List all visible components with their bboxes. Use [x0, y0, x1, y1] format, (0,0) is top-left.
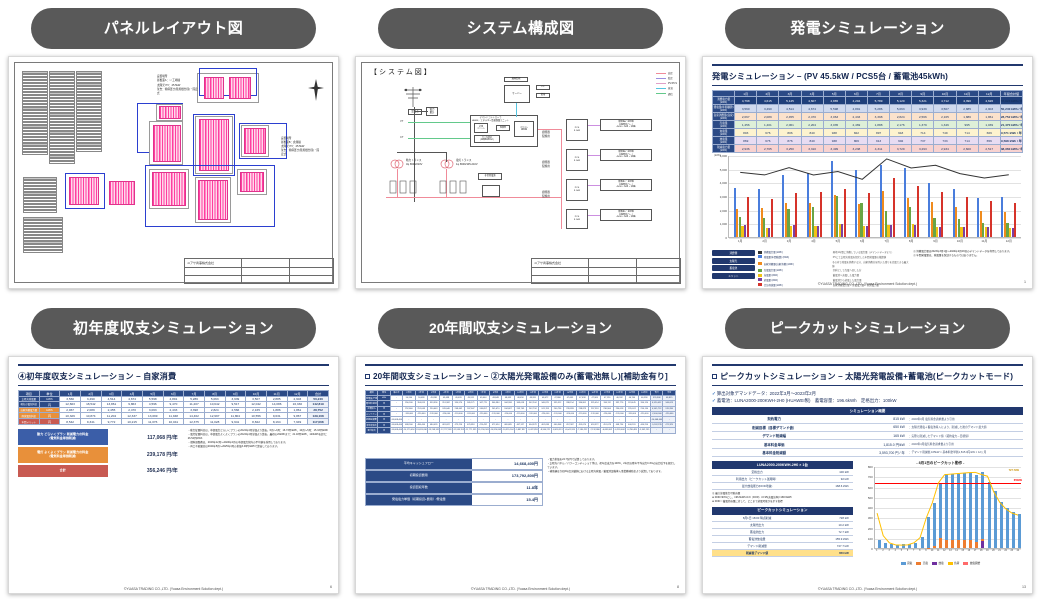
legend-note: その内で発電を消費する分、自家消費分を除いた残りを売電できる最大値: [832, 260, 910, 268]
load-line: [877, 472, 1018, 545]
kv-note: ：実際に削減したデマンド値（契約電力－目標値）: [905, 434, 1023, 438]
note-b: 設置場所 屋根面B：倉庫棟: [281, 137, 317, 145]
row-total: -: [650, 428, 662, 433]
row-total: 117,068: [308, 419, 329, 425]
kv-row: 削減目標（目標デマンド値） 650 kW ：太陽光発電＋蓄電池導入により、削減し…: [712, 424, 1023, 432]
x-tick: 11月: [981, 239, 987, 243]
cell: 7,949: [287, 419, 308, 425]
spec-table-e: [23, 217, 63, 253]
utility-pole-icon: [400, 85, 426, 112]
cell: 676: [757, 129, 779, 137]
legend-tag: 太陽光: [712, 258, 755, 264]
node-pcs-1: PCS9.1kW: [566, 119, 588, 141]
diagram-company: ユアサ商事株式会社: [534, 261, 561, 265]
y-tick: 700: [868, 475, 873, 479]
cell: 3,499: [823, 145, 845, 153]
cell: 2,455: [779, 113, 801, 121]
panel-peakcut-title[interactable]: ピークカットシミュレーション: [725, 308, 1010, 349]
cell: 8,822: [246, 419, 267, 425]
panel-layout-slide[interactable]: 設置場所 屋根面A：○○工場棟 太陽光 PV：45.5kW 架台：傾斜置き(陸屋…: [8, 56, 339, 289]
cell: 676: [757, 137, 779, 145]
generation-slide-title: 発電シミュレーション – (PV 45.5kW / PCS5台 / 蓄電池45k…: [712, 64, 1023, 86]
legend-item: 負荷: [948, 561, 960, 565]
cell: -5,786,489: [626, 428, 638, 433]
peak-y-axis: 0100200300400500600700800: [858, 467, 874, 559]
twentyyear-summary: 平均キャッシュフロー 14,668,400円 初期投資費用 173,792,80…: [365, 458, 543, 506]
legend-item: 自家消費量(自家消費) (kWh) その内で発電を消費する分、自家消費分を除いた…: [758, 260, 911, 268]
panel-array-a1: [204, 77, 224, 99]
peakcut-kv-list: 契約電力 815 kW ：2023年3月 電気料金請求書より引用 削減目標（目標…: [712, 415, 1023, 457]
y-tick: 600: [868, 486, 873, 490]
cell: 1,886: [956, 113, 978, 121]
row-label: 累計収支: [366, 428, 378, 433]
node-cloud-label: 遠隔監視: [504, 77, 528, 82]
line-series: [740, 159, 1009, 179]
twentyyear-title-text: 20年間収支シミュレーション – ②太陽光発電設備のみ(蓄電池無し)[補助金有り…: [373, 372, 668, 381]
legend-tag: メリット: [712, 273, 755, 279]
cell: 902: [890, 137, 912, 145]
cell: 656: [978, 137, 1000, 145]
wire-pcs-bus: [561, 129, 562, 229]
wire-pcs-2: [588, 155, 600, 156]
table-row: 消費電力量(kWh)4,7984,6155,1454,6074,8654,294…: [713, 97, 1023, 105]
note-a2: 太陽光 PV：45.5kW 架台：傾斜置き(陸屋根仕様)・固定式: [157, 84, 199, 95]
cell: -14,668,400: [390, 428, 402, 433]
y-tick: 300: [868, 516, 873, 520]
peak-value: 155.9 kWh: [802, 537, 853, 541]
twentyyear-footer: ©YUASA TRADING CO.,LTD. (Yuasa Environme…: [356, 587, 685, 591]
peakcut-footer: ©YUASA TRADING CO.,LTD. (Yuasa Environme…: [703, 587, 1032, 591]
row-label: 自家消費電力量: [19, 407, 40, 412]
panel-generation: 発電シミュレーション 発電シミュレーション – (PV 45.5kW / PCS…: [694, 0, 1041, 300]
panel-system-slide[interactable]: 【システム図】 高圧 低圧 PV/PCS 直流 通信 受電点 電力量計 VT C…: [355, 56, 686, 289]
cell: 1,888: [867, 121, 889, 129]
cell: 2,469: [845, 121, 867, 129]
cell: -9,887,837: [514, 428, 526, 433]
summary-box: 電灯 よくよくプラン 削減電力の料金(電気料金単価削減) 239,178 円/年: [18, 447, 184, 463]
row-label: 放電量(kWh): [713, 137, 735, 145]
x-tick: 8: [919, 550, 920, 552]
x-tick: 12: [943, 550, 946, 552]
peakcut-chart: 0100200300400500600700800 650kW727.7kW 1…: [858, 467, 1023, 559]
cell: 3,035: [823, 121, 845, 129]
x-tick: 6月: [860, 239, 865, 243]
cell: 1,379: [912, 121, 934, 129]
chart-line-overlay: [728, 156, 1021, 238]
wire-meter: [414, 111, 428, 112]
cell: 737: [912, 137, 934, 145]
transformer-light-icon: [440, 157, 454, 175]
firstyear-notes: ・動力従量料金は、中部電力どらいくプランの2024年4月単価より算出。6月～9月…: [188, 429, 329, 478]
table-row: 年間メリット 円8,5429,3419,77210,21511,07610,04…: [19, 419, 329, 425]
peak-row: 蓄電池放電量 155.9 kWh: [712, 536, 853, 543]
summary-value: 173,792,800円: [472, 471, 542, 481]
kv-key: 契約電力: [712, 416, 836, 421]
y-tick: 3,000: [720, 195, 727, 199]
table-row: 売電量(kWh)1,4561,4012,0612,2043,0352,4691,…: [713, 121, 1023, 129]
north-arrow-svg: [308, 77, 324, 101]
cell: 822: [845, 129, 867, 137]
transformer-power-note: 動力トランス 3φ 6600/210V: [406, 159, 442, 167]
cell: 2,061: [779, 121, 801, 129]
summary-label: 初期投資費用: [366, 471, 472, 481]
note-line: ・太陽光パネル／パワーコンディショナ等は、初年度出力を100%、2年目以降年平均…: [547, 462, 676, 470]
panel-array-a2: [229, 77, 251, 99]
y-tick: 200: [868, 527, 873, 531]
cell: -12,727,369: [440, 428, 452, 433]
panel-20year-slide[interactable]: 20年間収支シミュレーション – ②太陽光発電設備のみ(蓄電池無し)[補助金有り…: [355, 356, 686, 594]
cell: 1,401: [757, 121, 779, 129]
peak-value: 10.2 kW: [802, 523, 853, 527]
legend-item: 発電量(年間積算) (kWh) PVにて太陽光発電を想定した年間発電量の積算値: [758, 255, 911, 259]
y-tick: 4,000: [720, 181, 727, 185]
node-emergency-box: [482, 185, 500, 197]
cell: -12,248,153: [452, 428, 464, 433]
peak-key: デマンド削減量: [712, 544, 802, 548]
dimension-e: [145, 165, 275, 227]
x-tick: 4: [895, 550, 896, 552]
cell: 11,028: [204, 419, 225, 425]
battery-key: 最大放電能力(DOD考慮): [712, 484, 802, 488]
cell: 869: [735, 137, 757, 145]
battery-row: 利用出力（ピークカット運用時） 92 kW: [712, 476, 853, 483]
node-pcs-2: PCS9.1kW: [566, 149, 588, 171]
wire-tx-branch: [397, 152, 447, 153]
wire-tx-light-drop: [446, 152, 447, 162]
y-tick: 1,000: [720, 222, 727, 226]
peak-row: 太陽光出力 10.2 kW: [712, 522, 853, 529]
drawing-title-block: ユアサ商事株式会社: [184, 258, 334, 284]
peak-key: 蓄電池放電量: [712, 537, 802, 541]
north-arrow-icon: [308, 77, 324, 103]
row-label: 売電量(kWh): [713, 121, 735, 129]
row-label: 自家消費量(自家)(kWh): [713, 113, 735, 121]
panel-peakcut: ピークカットシミュレーション ピークカットシミュレーション – 太陽光発電設備+…: [694, 300, 1041, 599]
legend-note: 現地1年間に消費している電力量（デマンドデータより）: [833, 250, 894, 254]
cell: 4,514: [779, 105, 801, 113]
battery-value: 92 kW: [802, 477, 853, 481]
peak-line-overlay: [874, 467, 1021, 549]
battery-row: 定格出力 100 kW: [712, 469, 853, 476]
peakcut-bullets: ✓ 算出対象デマンドデータ：2022年3月～2023年2月✓ 蓄電池：LUNA2…: [712, 390, 1023, 405]
kv-row: 基本料金単価 1,815.0 円/kW ：2023年4月電気料金請求書より引用: [712, 440, 1023, 448]
node-array-3: 屋根面C・接続箱太陽電池アレイ450W × 26直 × 1回路: [600, 179, 652, 191]
cell: -5,342,235: [638, 428, 650, 433]
node-control-unit: 制御部: [496, 125, 510, 131]
summary-box: 合計 356,246 円/年: [18, 465, 184, 477]
wire-cloud: [516, 103, 517, 117]
summary-value: 117,068 円/年: [108, 434, 184, 441]
checkbox-icon: [712, 374, 717, 379]
wire-pcs-3: [588, 185, 600, 186]
cell: 9,772: [101, 419, 122, 425]
kv-key: 削減目標（目標デマンド値）: [712, 425, 836, 430]
cell: 2,765: [757, 145, 779, 153]
cell: -7,586,252: [576, 428, 588, 433]
y-tick: 6,000: [720, 154, 727, 158]
node-array-4: 屋根面D・接続箱太陽電池アレイ450W × 26直 × 1回路: [600, 209, 652, 221]
row-unit: 円: [39, 419, 60, 425]
twentyyear-page-no: 8: [677, 585, 679, 589]
row-label: 年間メリット: [19, 419, 40, 425]
legend-note: 余剰として売電へ回した分: [833, 268, 862, 272]
y-tick: 500: [868, 496, 873, 500]
panel-firstyear-slide[interactable]: ④初年度収支シミュレーション – 自家消費 項目単位1月2月3月4月5月6月7月…: [8, 356, 339, 594]
peakcut-title-text: ピークカットシミュレーション – 太陽光発電設備+蓄電池(ピークカットモード): [720, 372, 1013, 381]
cell: 4,891: [845, 105, 867, 113]
cell: 2,600: [956, 145, 978, 153]
cell: 2,517: [978, 145, 1000, 153]
cell: 4,294: [845, 97, 867, 105]
x-tick: 16: [968, 550, 971, 552]
wire-ct-signal: [408, 138, 470, 139]
legend-label: 消費電力量 (kWh): [764, 250, 831, 254]
peakcut-page-no: 13: [1022, 585, 1026, 589]
battery-header: LUNA2000-200KWH-2H0 × 1台: [712, 461, 853, 469]
cell: 2,824: [890, 113, 912, 121]
firstyear-footer: ©YUASA TRADING CO.,LTD. (Yuasa Environme…: [9, 587, 338, 591]
cell: 8,164: [266, 419, 287, 425]
panel-system-title[interactable]: システム構成図: [378, 8, 663, 49]
cell: 806: [845, 137, 867, 145]
peakcut-chart-legend: 買電売電放電負荷放電開始: [858, 561, 1023, 565]
peak-row: デマンド削減量 727.7 kW: [712, 543, 853, 550]
legend-note: PVにて太陽光発電を想定した年間発電量の積算値: [833, 255, 886, 259]
cell: 2,903: [978, 105, 1000, 113]
cell: 938: [823, 137, 845, 145]
peak-key: 蓄電池出力: [712, 530, 802, 534]
summary-label: 投資回収年数: [366, 483, 472, 493]
cell: 2,176: [890, 121, 912, 129]
kv-row: 契約電力 815 kW ：2023年3月 電気料金請求書より引用: [712, 415, 1023, 423]
panel-layout: パネルレイアウト図: [0, 0, 347, 300]
summary-value: 15.4円: [472, 495, 542, 505]
cell: 913: [867, 137, 889, 145]
kv-row: 基本料金削減額 3,593,700 円 / 年 ：デマンド削減幅 165kW ×…: [712, 449, 1023, 457]
legend-note: 蓄電池へ充電した電力量: [833, 273, 859, 277]
peak-row: 8月1日 18:00 時点削減 728 kW: [712, 515, 853, 522]
peak-key: 8月1日 18:00 時点削減: [712, 516, 802, 520]
y-tick: 400: [868, 506, 873, 510]
cell: 938: [823, 129, 845, 137]
cell: 3,250: [779, 145, 801, 153]
cell: 4,674: [801, 105, 823, 113]
cell: 4,607: [801, 97, 823, 105]
battery-key: 利用出力（ピークカット運用時）: [712, 477, 802, 481]
chart-y-axis: 01,0002,0003,0004,0005,0006,000: [712, 156, 728, 248]
legend-item: 売電電力量 (kWh) 余剰として売電へ回した分: [758, 268, 911, 272]
cell: 4,311: [867, 145, 889, 153]
breaker-group-right: [438, 179, 468, 200]
cell: 3,238: [845, 145, 867, 153]
node-monitor: モニタ表示(遠隔監視対応): [474, 135, 500, 143]
cell: 876: [779, 137, 801, 145]
cell: -13,208,991: [427, 428, 439, 433]
label-vt: VT: [400, 120, 403, 123]
checkbox-icon: [365, 374, 370, 379]
generation-page-no: 1: [1024, 280, 1026, 284]
cell: 4,390: [956, 97, 978, 105]
cell: 9,941: [225, 419, 246, 425]
panel-20year-title[interactable]: 20年間収支シミュレーション: [378, 308, 663, 349]
kv-key: 基本料金単価: [712, 442, 836, 447]
twentyyear-notes: ・電力単価を24.7万円で試算しております。・太陽光パネル／パワーコンディショナ…: [547, 458, 676, 506]
row-total: 57,924 kWh / 年: [1000, 97, 1022, 105]
summary-label: 電灯 よくよくプラン 削減電力の料金(電気料金単価削減): [18, 447, 108, 463]
x-tick: 23: [1011, 550, 1014, 552]
generation-footer: ©YUASA TRADING CO.,LTD. (Yuasa Environme…: [703, 282, 1032, 286]
dimension-d: [239, 123, 287, 159]
peak-value: 72.7 kW: [802, 530, 853, 534]
row-total: 9,571 kWh / 年: [1000, 129, 1022, 137]
spec-table-b: [49, 71, 75, 164]
y-tick: 800: [868, 465, 873, 469]
node-array-1: 屋根面A・接続箱太陽電池アレイ450W × 26直 × 1回路: [600, 119, 652, 131]
cell: 8,542: [60, 419, 81, 425]
panel-generation-title[interactable]: 発電シミュレーション: [725, 8, 1010, 49]
battery-key: 定格出力: [712, 470, 802, 474]
firstyear-table: 項目単位1月2月3月4月5月6月7月8月9月10月11月12月合計 太陽光発電量…: [18, 390, 329, 426]
cell: 669: [978, 129, 1000, 137]
x-tick: 15: [961, 550, 964, 552]
legend-item: 買電: [901, 561, 913, 565]
cell: 2,433: [845, 113, 867, 121]
panel-firstyear: 初年度収支シミュレーション ④初年度収支シミュレーション – 自家消費 項目単位…: [0, 300, 347, 599]
wire-pcs-feed: [538, 129, 562, 130]
x-tick: 24: [1017, 550, 1020, 552]
x-tick: 11: [937, 550, 939, 552]
summary-row: 発電電力単価（初期投資+費用）/発電量 15.4円: [365, 494, 543, 506]
table-row: 充電量(kWh)80367680684093882289791871474971…: [713, 129, 1023, 137]
kv-key: デマンド削減幅: [712, 433, 836, 438]
x-tick: 9月: [933, 239, 938, 243]
x-tick: 19: [986, 550, 989, 552]
cell: 10,215: [122, 419, 143, 425]
row-total: 38,360 kWh / 年: [1000, 145, 1022, 153]
x-tick: 2月: [762, 239, 767, 243]
summary-value: 14,668,400円: [472, 459, 542, 469]
cell: 12,375: [184, 419, 205, 425]
cell: 5,063: [890, 105, 912, 113]
y-tick: 0: [725, 236, 727, 240]
summary-label: 平均キャッシュフロー: [366, 459, 472, 469]
x-tick: 8月: [909, 239, 914, 243]
row-total: 9,598 kWh / 年: [1000, 137, 1022, 145]
peak-key: 太陽光出力: [712, 523, 802, 527]
cell: 3,398: [867, 113, 889, 121]
cell: -14,179,494: [403, 428, 415, 433]
wire-vt-signal: [408, 122, 470, 123]
x-tick: 7: [913, 550, 914, 552]
panel-generation-slide[interactable]: 発電シミュレーション – (PV 45.5kW / PCS5台 / 蓄電池45k…: [702, 56, 1033, 289]
note-line: ・補助額は令和6年度実績値における太陽光発電／蓄電池設備導入事業費補助金より試算…: [547, 470, 676, 474]
kv-value: 650 kW: [836, 425, 904, 429]
cell: 2,934: [934, 145, 956, 153]
cell: 5,120: [890, 97, 912, 105]
chart-x-axis: 1月2月3月4月5月6月7月8月9月10月11月12月: [728, 238, 1021, 248]
summary-row: 投資回収年数 11.8年: [365, 482, 543, 494]
note-b2: 太陽光 PV：45.5kW 架台：傾斜置き(陸屋根仕様)・固定式: [281, 145, 321, 156]
peak-key: 削減後デマンド値: [712, 551, 802, 555]
summary-label: 発電電力単価（初期投資+費用）/発電量: [366, 495, 472, 505]
row-avg: -: [663, 428, 676, 433]
diagram-title-block: ユアサ商事株式会社: [531, 258, 681, 284]
cell: 4,798: [735, 97, 757, 105]
peak-row: 削減後デマンド値 650 kW: [712, 550, 853, 557]
kv-value: 165 kW: [836, 434, 904, 438]
row-label: 充電量(kWh): [713, 129, 735, 137]
node-cloud-server: サーバー: [504, 85, 530, 103]
peak-header: ピークカットシミュレーション: [712, 507, 853, 515]
cell: -10,824,849: [489, 428, 501, 433]
note-a: 設置場所 屋根面A：○○工場棟: [157, 75, 195, 83]
summary-row: 平均キャッシュフロー 14,668,400円: [365, 458, 543, 470]
cell: 4,626: [978, 97, 1000, 105]
panel-layout-title[interactable]: パネルレイアウト図: [31, 8, 316, 49]
bullet-line: ✓ 蓄電池：LUNA2000-200KWH-2H0 (HUAWEI製) 蓄電容量…: [712, 397, 1023, 404]
node-receiving-point: 受電点: [408, 109, 422, 115]
cell: -6,233,008: [613, 428, 625, 433]
cell: 995: [956, 121, 978, 129]
legend-tag: 消費側: [712, 250, 755, 256]
x-tick: 5月: [836, 239, 841, 243]
row-unit: 円: [378, 428, 390, 433]
panel-array-i: [109, 181, 135, 205]
node-array-2: 屋根面B・接続箱太陽電池アレイ450W × 26直 × 1回路: [600, 149, 652, 161]
breaker-note-1: 遮断器配線用: [542, 131, 550, 139]
transformer-light-note: 電灯トランス 1φ 6600/105-210V: [456, 159, 494, 167]
panel-system: システム構成図 【システム図】 高圧 低圧 PV/PCS 直流 通信 受電点 電…: [347, 0, 694, 300]
legend-tag: 蓄電池: [712, 265, 755, 271]
diagram-legend: 高圧 低圧 PV/PCS 直流 通信: [656, 71, 677, 97]
panel-grid: パネルレイアウト図: [0, 0, 1041, 599]
node-pc: PC: [536, 85, 550, 90]
panel-peakcut-slide[interactable]: ピークカットシミュレーション – 太陽光発電設備+蓄電池(ピークカットモード) …: [702, 356, 1033, 594]
legend-item: 売電: [916, 561, 928, 565]
cell: 9,341: [80, 419, 101, 425]
cell: -8,041,926: [564, 428, 576, 433]
panel-firstyear-title[interactable]: 初年度収支シミュレーション: [31, 308, 316, 349]
x-tick: 6: [907, 550, 908, 552]
y-tick: 2,000: [720, 209, 727, 213]
cell: 5,598: [823, 105, 845, 113]
cell: -13,693,030: [415, 428, 427, 433]
cell: 714: [956, 137, 978, 145]
x-tick: 1月: [738, 239, 743, 243]
spec-table-d: [23, 177, 57, 213]
cell: 1,039: [978, 121, 1000, 129]
x-tick: 12月: [1006, 239, 1012, 243]
battery-row: 最大放電能力(DOD考慮) 168.6 kWh: [712, 483, 853, 490]
table-row: 放電量(kWh)86967687684093880691390273773371…: [713, 137, 1023, 145]
row-label: 発電量(年間積算)(kWh): [713, 105, 735, 113]
x-tick: 3月: [787, 239, 792, 243]
drawing-company: ユアサ商事株式会社: [187, 261, 214, 265]
cell: -8,960,221: [539, 428, 551, 433]
kv-note: ：2023年3月 電気料金請求書より引用: [905, 417, 1023, 421]
cell: 2,566: [912, 113, 934, 121]
x-tick: 2: [882, 550, 883, 552]
x-tick: 10: [931, 550, 934, 552]
firstyear-summary: 動力 どらいくプラン 削減電力の料金(電気料金単価削減) 117,068 円/年…: [18, 429, 184, 478]
panel-array-b2: [153, 125, 181, 162]
table-row: 発電量(年間積算)(kWh)3,5603,4904,5144,6745,5984…: [713, 105, 1023, 113]
cell: 3,490: [757, 105, 779, 113]
cell: 2,470: [801, 113, 823, 121]
cell: 2,936: [735, 145, 757, 153]
y-tick: 5,000: [720, 168, 727, 172]
peakcut-slide-title: ピークカットシミュレーション – 太陽光発電設備+蓄電池(ピークカットモード): [712, 364, 1023, 386]
